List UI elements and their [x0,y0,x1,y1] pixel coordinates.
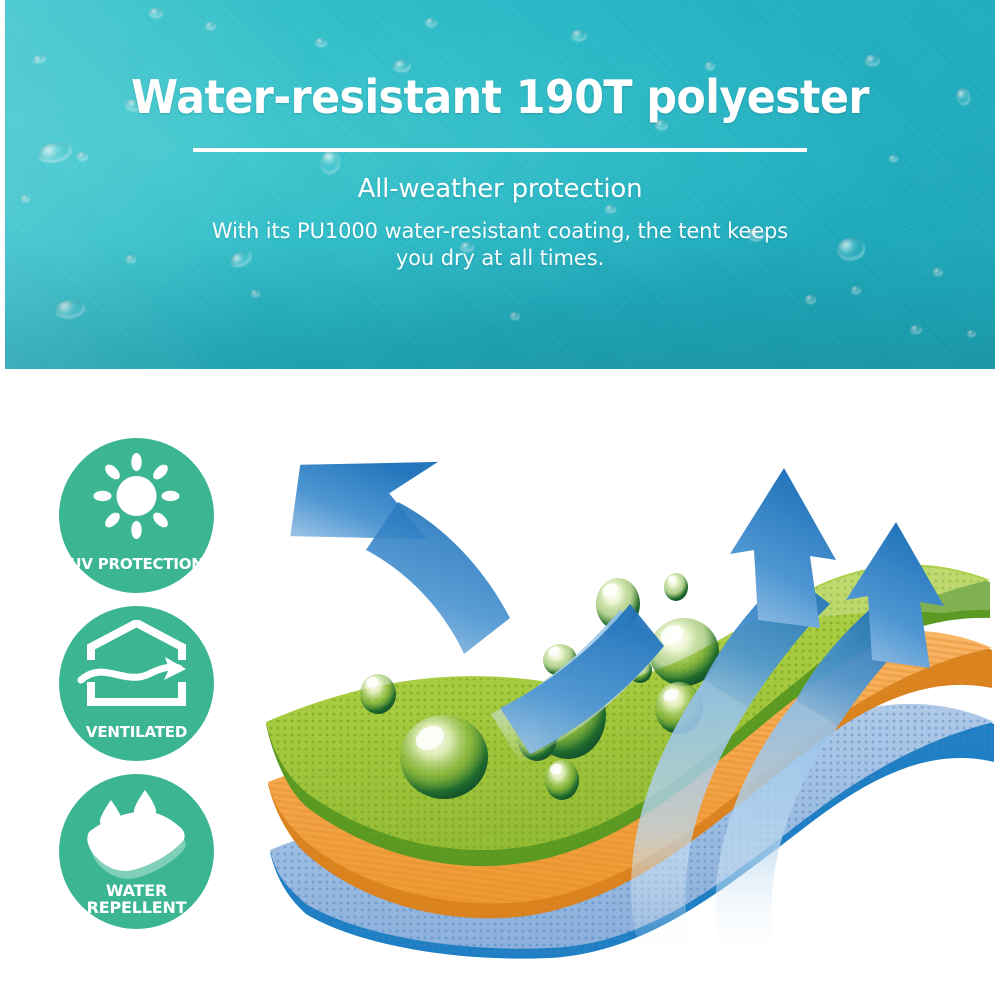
banner-body-text: With its PU1000 water-resistant coating,… [190,204,810,273]
page-title: Water-resistant 190T polyester [40,0,961,120]
house-airflow-icon [59,620,214,712]
arrow-left-outward-bend [366,502,510,654]
water-droplet [664,573,688,601]
sun-icon [59,452,214,544]
badge-ventilated[interactable]: VENTILATED [59,606,214,761]
feature-badge-list: UV PROTECTION VENTILATED WATER REPELLENT [59,438,217,942]
banner-subtitle: All-weather protection [5,152,995,204]
fabric-droplets-icon [59,788,214,880]
hero-banner: Water-resistant 190T polyester All-weath… [5,0,995,369]
fabric-layer-diagram [248,432,1000,960]
badge-label-line2: REPELLENT [87,898,187,917]
badge-uv-protection[interactable]: UV PROTECTION [59,438,214,593]
badge-label: WATER REPELLENT [59,883,214,917]
water-droplet [360,674,396,714]
badge-water-repellent[interactable]: WATER REPELLENT [59,774,214,929]
badge-label: UV PROTECTION [59,557,214,573]
badge-label: VENTILATED [59,725,214,741]
banner-text-block: Water-resistant 190T polyester All-weath… [5,0,995,273]
water-droplet [400,715,488,799]
water-droplet [545,760,579,800]
